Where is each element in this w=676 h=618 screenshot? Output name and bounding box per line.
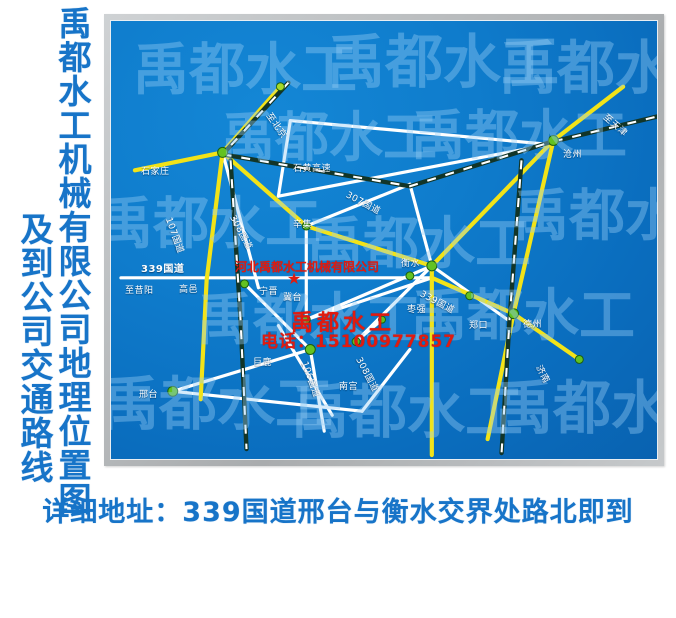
city-label: 邢台 [139, 387, 158, 400]
road-label: 石黄高速 [293, 161, 331, 174]
road-label: 至昔阳 [125, 283, 154, 296]
map-frame: 禹都水工 禹都水工 禹都水工 禹都水工 禹都水工 禹都水工 禹都水工 禹都水工 … [104, 14, 664, 466]
city-label: 枣强 [407, 302, 426, 315]
city-label: 郑口 [469, 318, 488, 331]
city-label: 冀台 [283, 290, 302, 303]
city-label: 巨鹿 [253, 355, 272, 368]
road-network-graphic [111, 21, 657, 459]
address-bar: 详细地址：339国道邢台与衡水交界处路北即到 [0, 490, 676, 529]
city-label: 宁晋 [259, 284, 278, 297]
poster-title-block: 禹都水工机械有限公司地理位置图 及到公司交通路线 [0, 0, 108, 480]
road-label: 339国道 [141, 260, 184, 275]
poster-title-sub: 及到公司交通路线 [18, 212, 51, 484]
city-label: 辛集 [293, 217, 312, 230]
detailed-address-text: 详细地址：339国道邢台与衡水交界处路北即到 [42, 490, 633, 529]
city-label: 高邑 [179, 282, 198, 295]
city-label: 德州 [523, 317, 542, 330]
city-label: 南宫 [339, 379, 358, 392]
city-label: 衡水 [401, 256, 420, 269]
company-name-annotation: 河北禹都水工机械有限公司 [235, 258, 379, 275]
city-label: 石家庄 [141, 164, 170, 177]
city-label: 沧州 [563, 147, 582, 160]
company-location-star-icon[interactable]: ★ [286, 271, 302, 287]
map-canvas[interactable]: 禹都水工 禹都水工 禹都水工 禹都水工 禹都水工 禹都水工 禹都水工 禹都水工 … [110, 20, 658, 460]
phone-annotation: 电话：15100977857 [261, 327, 456, 352]
poster-title-main: 禹都水工机械有限公司地理位置图 [56, 6, 89, 516]
